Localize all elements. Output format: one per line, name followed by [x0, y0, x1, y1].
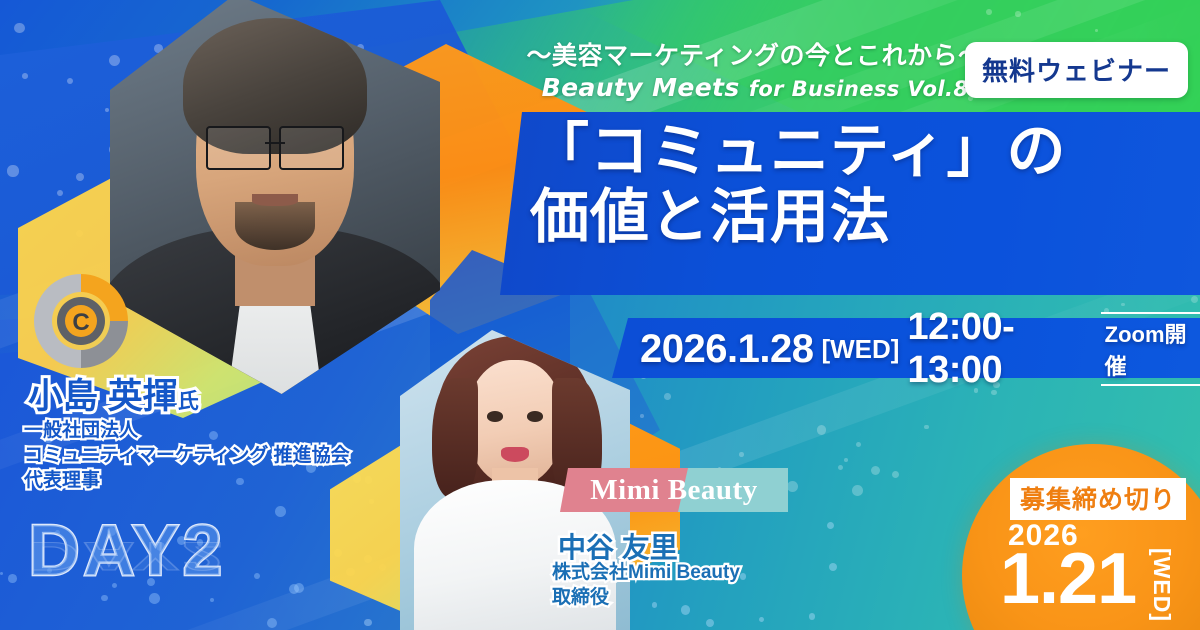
mimi-logo-text: Mimi Beauty	[560, 468, 788, 512]
speaker-1-name-text: 小島 英揮	[28, 377, 178, 416]
deadline-date: 1.21	[1000, 543, 1136, 615]
speaker-1-org-line: コミュニティマーケティング 推進協会	[24, 443, 404, 468]
schedule-time: 12:00-13:00	[907, 306, 1084, 392]
page-title: 「コミュニティ」の 価値と活用法	[530, 118, 1190, 250]
deadline-label: 募集締め切り	[1010, 478, 1186, 520]
schedule-date: 2026.1.28	[640, 327, 813, 372]
event-kicker: 〜美容マーケティングの今とこれから〜	[505, 36, 1005, 72]
speaker-1-name: 小島 英揮氏	[28, 368, 199, 419]
free-webinar-badge[interactable]: 無料ウェビナー	[965, 42, 1188, 98]
speaker-1-name-suffix: 氏	[178, 390, 199, 413]
speaker-2-org-line: 取締役	[552, 585, 852, 610]
title-line-1: 「コミュニティ」の	[530, 118, 1190, 184]
speaker-1-org-line: 代表理事	[24, 468, 404, 493]
mimi-beauty-logo: Mimi Beauty	[560, 468, 788, 512]
speaker-2-org-line: 株式会社Mimi Beauty	[552, 560, 852, 585]
series-main: Beauty Meets	[542, 73, 740, 102]
speaker-1-org-line: 一般社団法人	[24, 418, 404, 443]
community-association-logo-icon: C	[22, 262, 140, 374]
schedule-day: [WED]	[821, 334, 899, 365]
webinar-banner: C 〜美容マーケティングの今とこれから〜 Beauty Meets for Bu…	[0, 0, 1200, 630]
speaker-2-affiliation: 株式会社Mimi Beauty 取締役	[552, 560, 852, 611]
event-series-title: Beauty Meets for Business Vol.8	[505, 73, 1005, 102]
title-line-2: 価値と活用法	[530, 184, 1190, 250]
day-marker-reflection: DAY2	[28, 533, 225, 578]
deadline-day-of-week: [WED]	[1148, 548, 1175, 622]
speaker-1-affiliation: 一般社団法人 コミュニティマーケティング 推進協会 代表理事	[24, 418, 404, 493]
platform-tag: Zoom開催	[1101, 312, 1200, 386]
schedule-info: 2026.1.28 [WED] 12:00-13:00 Zoom開催	[640, 325, 1200, 373]
series-sub: for Business Vol.8	[749, 77, 969, 101]
svg-text:C: C	[72, 309, 89, 336]
